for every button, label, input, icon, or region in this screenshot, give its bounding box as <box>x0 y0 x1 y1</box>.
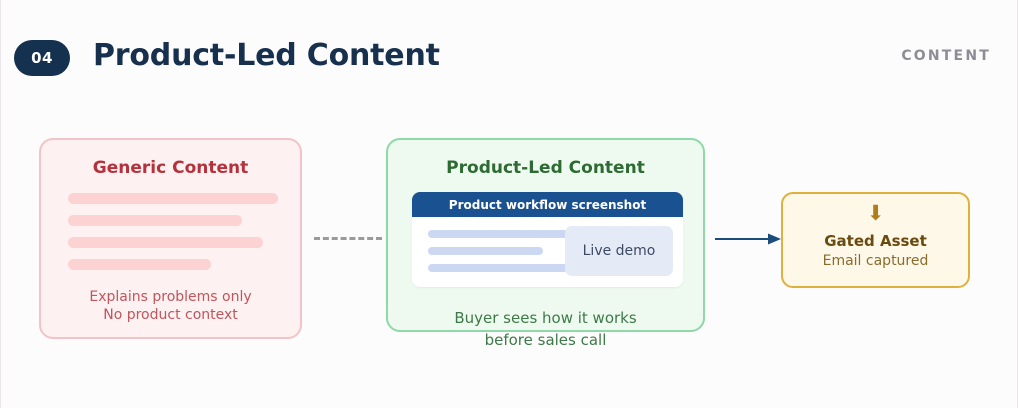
card-generic-title: Generic Content <box>41 158 300 178</box>
product-mock-body: Live demo <box>412 217 683 287</box>
card-gated-title: Gated Asset <box>783 232 968 250</box>
down-arrow-icon: ⬇ <box>783 203 968 224</box>
card-generic-caption-line2: No product context <box>41 306 300 324</box>
live-demo-badge[interactable]: Live demo <box>565 226 673 276</box>
skeleton-bar <box>68 237 263 248</box>
card-generic-caption-line1: Explains problems only <box>41 288 300 306</box>
skeleton-bar <box>68 215 242 226</box>
solid-arrow-icon <box>715 230 781 248</box>
skeleton-bar <box>68 259 211 270</box>
dashed-connector-icon <box>314 237 382 240</box>
mock-line-bar <box>428 247 543 255</box>
mock-line-bar <box>428 264 588 272</box>
card-generic-caption: Explains problems only No product contex… <box>41 288 300 324</box>
skeleton-bar <box>68 193 278 204</box>
card-generic-content: Generic Content Explains problems only N… <box>39 138 302 339</box>
mock-line-bar <box>428 230 582 238</box>
product-mock-panel: Product workflow screenshot Live demo <box>412 192 683 287</box>
diagram-stage: Generic Content Explains problems only N… <box>1 0 1018 408</box>
card-product-led-content: Product-Led Content Product workflow scr… <box>386 138 705 332</box>
card-productled-caption-line1: Buyer sees how it works <box>388 307 703 329</box>
card-productled-title: Product-Led Content <box>388 158 703 178</box>
card-productled-caption: Buyer sees how it works before sales cal… <box>388 307 703 351</box>
card-gated-caption: Email captured <box>783 253 968 269</box>
generic-skeleton-group <box>68 193 278 281</box>
product-mock-line-group <box>428 230 588 281</box>
product-mock-header-label: Product workflow screenshot <box>412 192 683 217</box>
card-gated-asset: ⬇ Gated Asset Email captured <box>781 192 970 288</box>
card-productled-caption-line2: before sales call <box>388 329 703 351</box>
